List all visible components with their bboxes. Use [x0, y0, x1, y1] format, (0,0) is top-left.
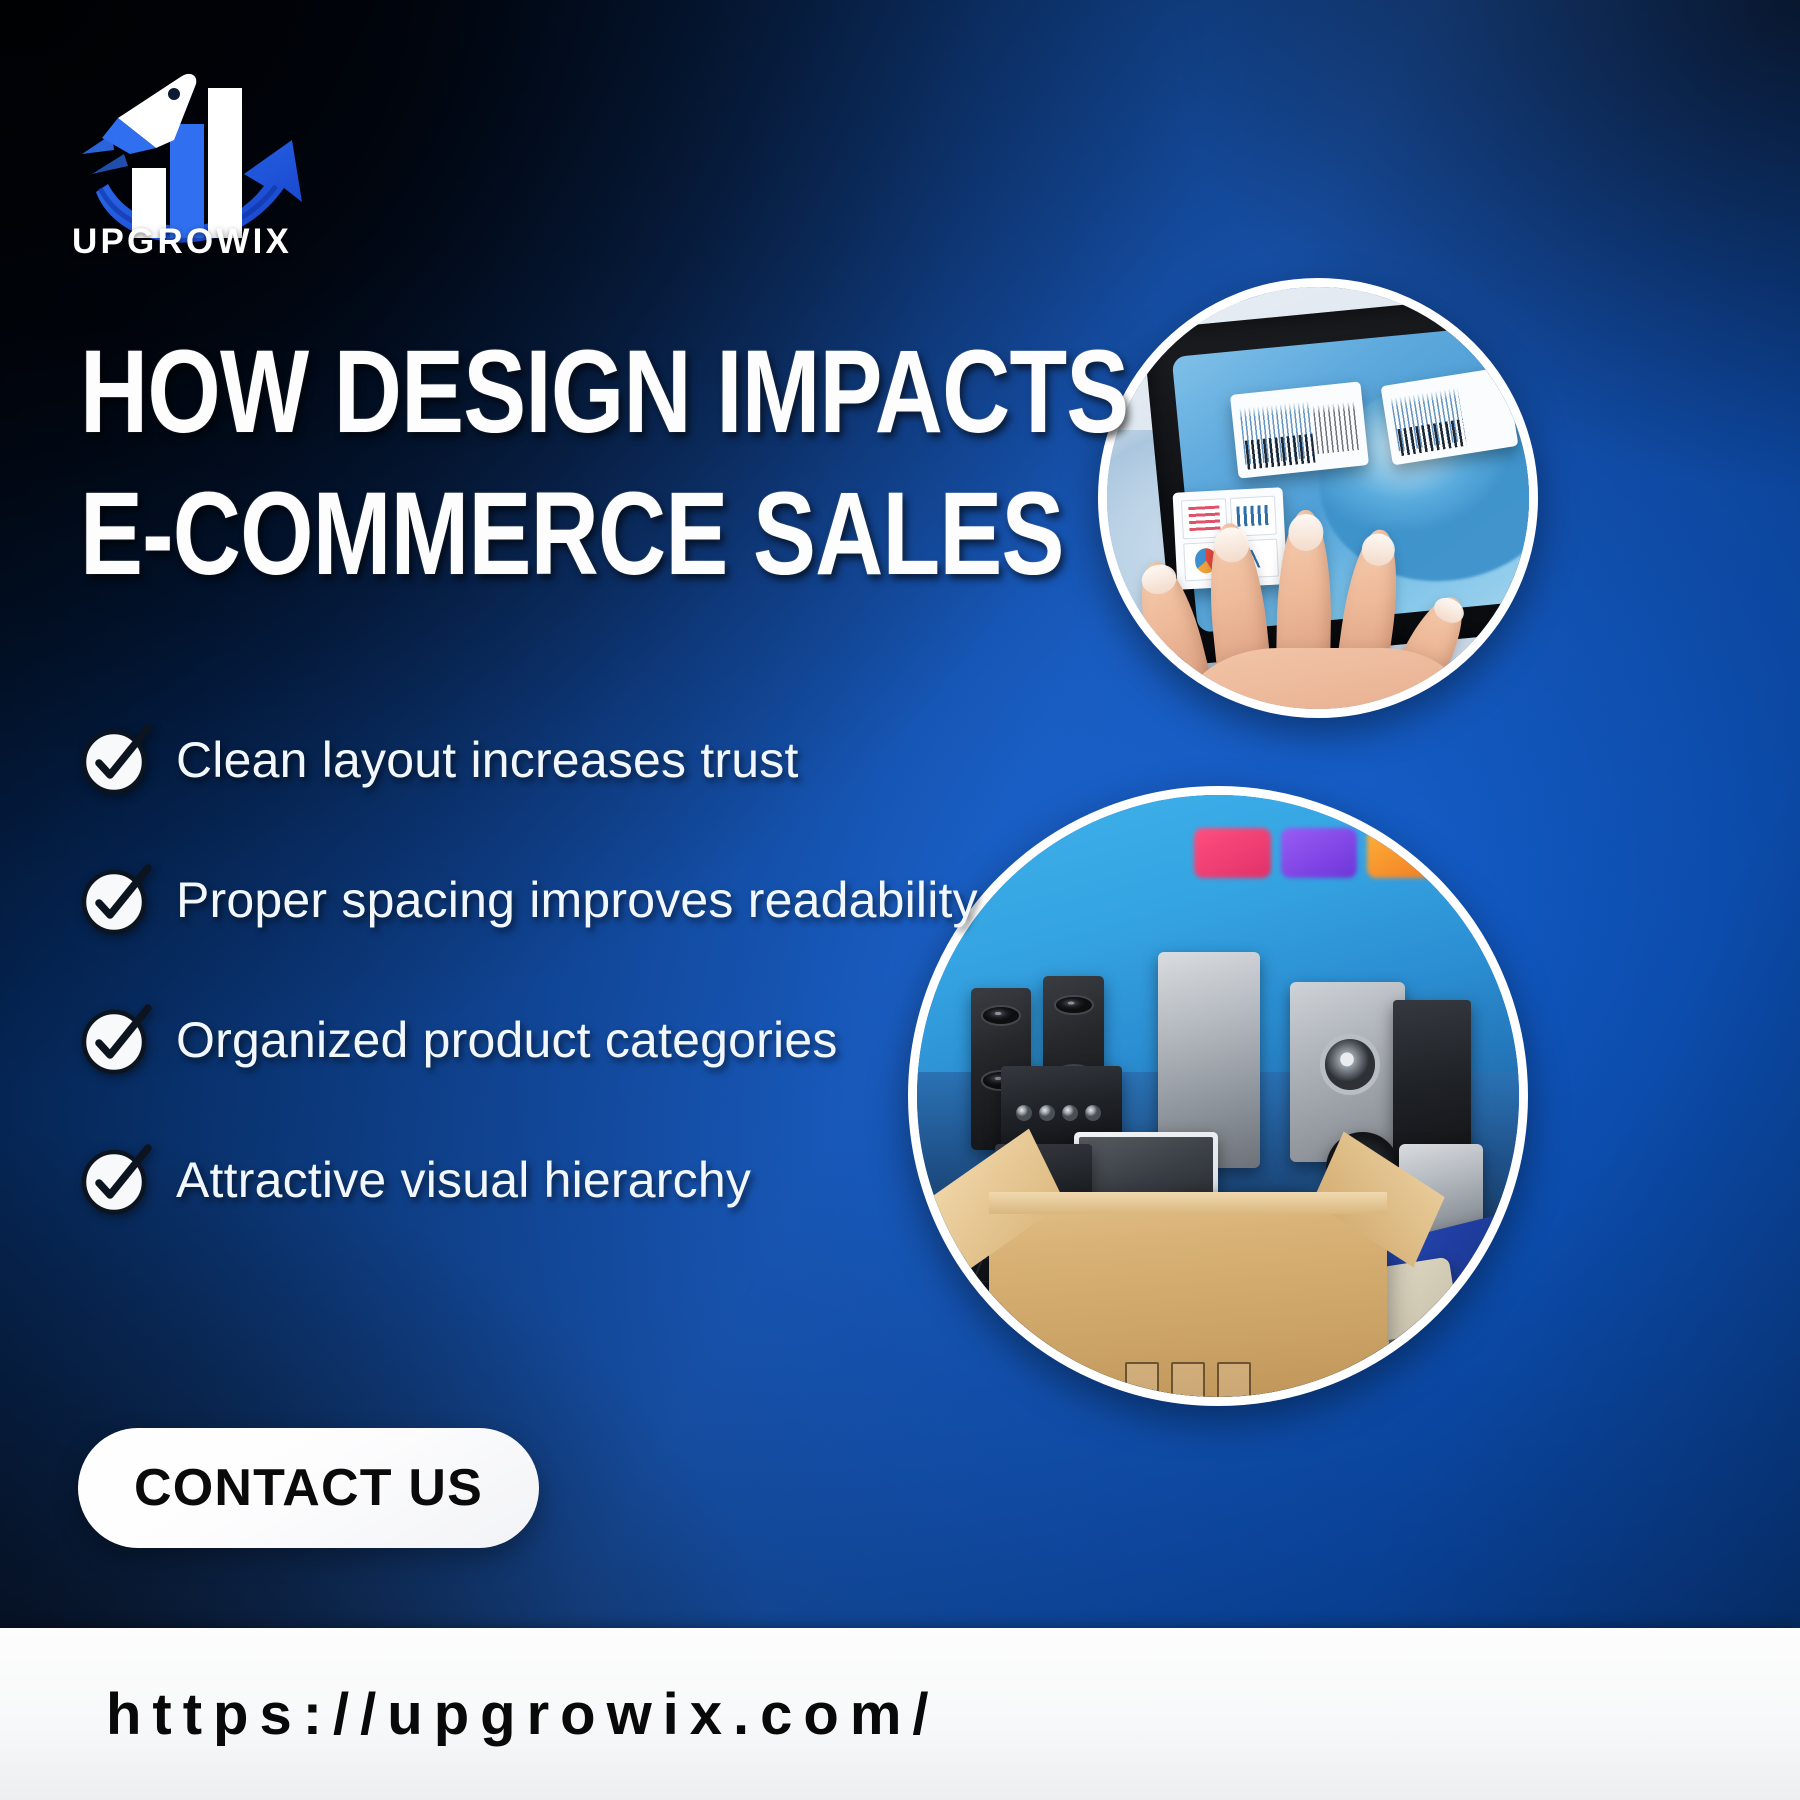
- brand-name: UPGROWIX: [72, 222, 292, 262]
- poster-canvas: UPGROWIX HOW DESIGN IMPACTS E-COMMERCE S…: [0, 0, 1800, 1800]
- appliance-device: [1393, 1000, 1471, 1169]
- benefits-list: Clean layout increases trust Proper spac…: [78, 690, 1138, 1250]
- check-circle-icon: [78, 862, 154, 938]
- list-item: Clean layout increases trust: [78, 690, 1138, 830]
- list-item: Organized product categories: [78, 970, 1138, 1110]
- contact-us-label: CONTACT US: [134, 1458, 483, 1518]
- tablet-analytics-photo: [1098, 278, 1538, 718]
- footer-bar: https://upgrowix.com/: [0, 1628, 1800, 1800]
- data-card-chart: [1230, 382, 1369, 480]
- check-circle-icon: [78, 722, 154, 798]
- page-title: HOW DESIGN IMPACTS E-COMMERCE SALES: [80, 322, 1110, 605]
- list-item-label: Attractive visual hierarchy: [176, 1151, 751, 1209]
- contact-us-button[interactable]: CONTACT US: [78, 1428, 539, 1548]
- website-url[interactable]: https://upgrowix.com/: [106, 1681, 940, 1748]
- check-circle-icon: [78, 1002, 154, 1078]
- list-item: Attractive visual hierarchy: [78, 1110, 1138, 1250]
- app-tiles: [1194, 828, 1528, 878]
- tablet-scene: [1107, 287, 1529, 709]
- hand-graphic: [1132, 498, 1495, 718]
- check-circle-icon: [78, 1142, 154, 1218]
- this-side-up-icon: [1171, 1362, 1205, 1404]
- list-item-label: Organized product categories: [176, 1011, 838, 1069]
- headline-line-2: E-COMMERCE SALES: [80, 464, 904, 606]
- keep-dry-icon: [1217, 1362, 1251, 1404]
- list-item: Proper spacing improves readability: [78, 830, 1138, 970]
- headline-line-1: HOW DESIGN IMPACTS: [80, 322, 904, 464]
- bar-chart-graphic: [1245, 434, 1316, 470]
- list-item-label: Clean layout increases trust: [176, 731, 799, 789]
- palm: [1183, 648, 1466, 718]
- sparkline-graphic: [1312, 401, 1359, 454]
- list-item-label: Proper spacing improves readability: [176, 871, 978, 929]
